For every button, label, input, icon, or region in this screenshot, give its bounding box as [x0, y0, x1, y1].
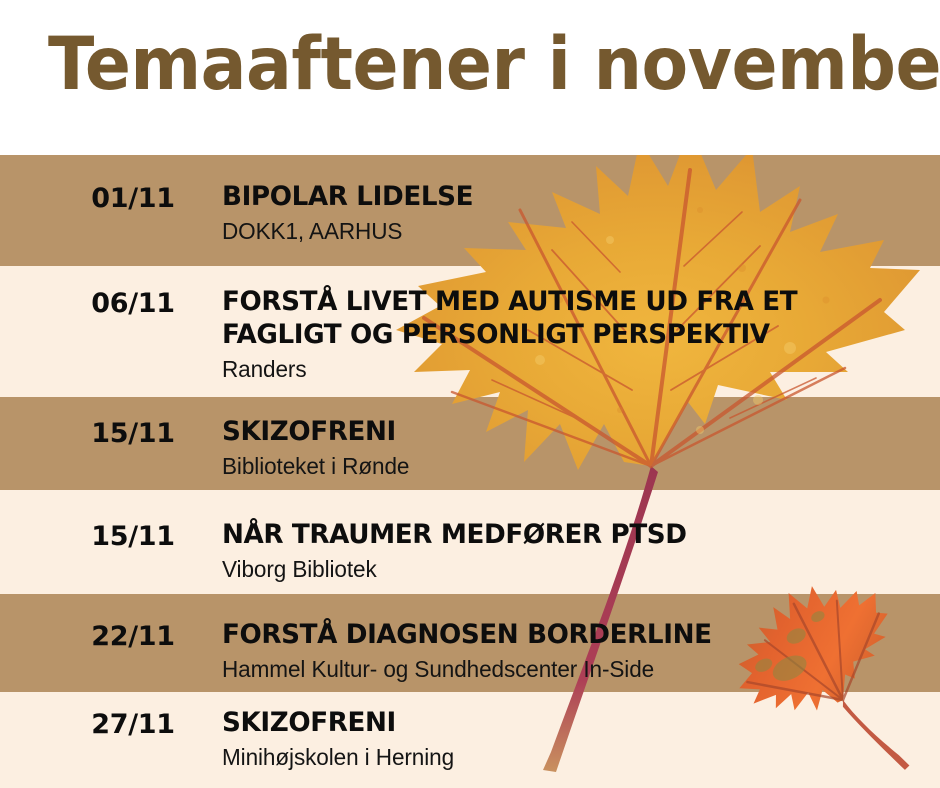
- event-title: SKIZOFRENI: [222, 706, 909, 739]
- event-title: FORSTÅ LIVET MED AUTISME UD FRA ET FAGLI…: [222, 285, 843, 351]
- event-date: 22/11: [58, 621, 208, 652]
- title-banner: Temaaftener i november: [0, 0, 940, 155]
- event-title: BIPOLAR LIDELSE: [222, 180, 909, 213]
- event-venue: Hammel Kultur- og Sundhedscenter In-Side: [222, 655, 916, 683]
- event-venue: Viborg Bibliotek: [222, 555, 916, 583]
- event-title: FORSTÅ DIAGNOSEN BORDERLINE: [222, 618, 909, 651]
- event-date: 15/11: [58, 418, 208, 449]
- event-date: 06/11: [58, 288, 208, 319]
- event-date: 01/11: [58, 183, 208, 214]
- event-row[interactable]: 06/11 FORSTÅ LIVET MED AUTISME UD FRA ET…: [0, 275, 940, 395]
- event-row[interactable]: 15/11 SKIZOFRENI Biblioteket i Rønde: [0, 405, 940, 505]
- event-title: NÅR TRAUMER MEDFØRER PTSD: [222, 518, 909, 551]
- event-row[interactable]: 27/11 SKIZOFRENI Minihøjskolen i Herning: [0, 696, 940, 788]
- event-row[interactable]: 15/11 NÅR TRAUMER MEDFØRER PTSD Viborg B…: [0, 508, 940, 608]
- event-venue: Biblioteket i Rønde: [222, 452, 916, 480]
- event-venue: Minihøjskolen i Herning: [222, 743, 916, 771]
- event-venue: Randers: [222, 355, 916, 383]
- event-row[interactable]: 22/11 FORSTÅ DIAGNOSEN BORDERLINE Hammel…: [0, 608, 940, 708]
- event-venue: DOKK1, AARHUS: [222, 217, 916, 245]
- event-date: 27/11: [58, 709, 208, 740]
- event-title: SKIZOFRENI: [222, 415, 909, 448]
- poster-root: Temaaftener i november 01/11 BIPOLAR LID…: [0, 0, 940, 788]
- event-date: 15/11: [58, 521, 208, 552]
- event-row[interactable]: 01/11 BIPOLAR LIDELSE DOKK1, AARHUS: [0, 170, 940, 270]
- page-title: Temaaftener i november: [48, 22, 940, 108]
